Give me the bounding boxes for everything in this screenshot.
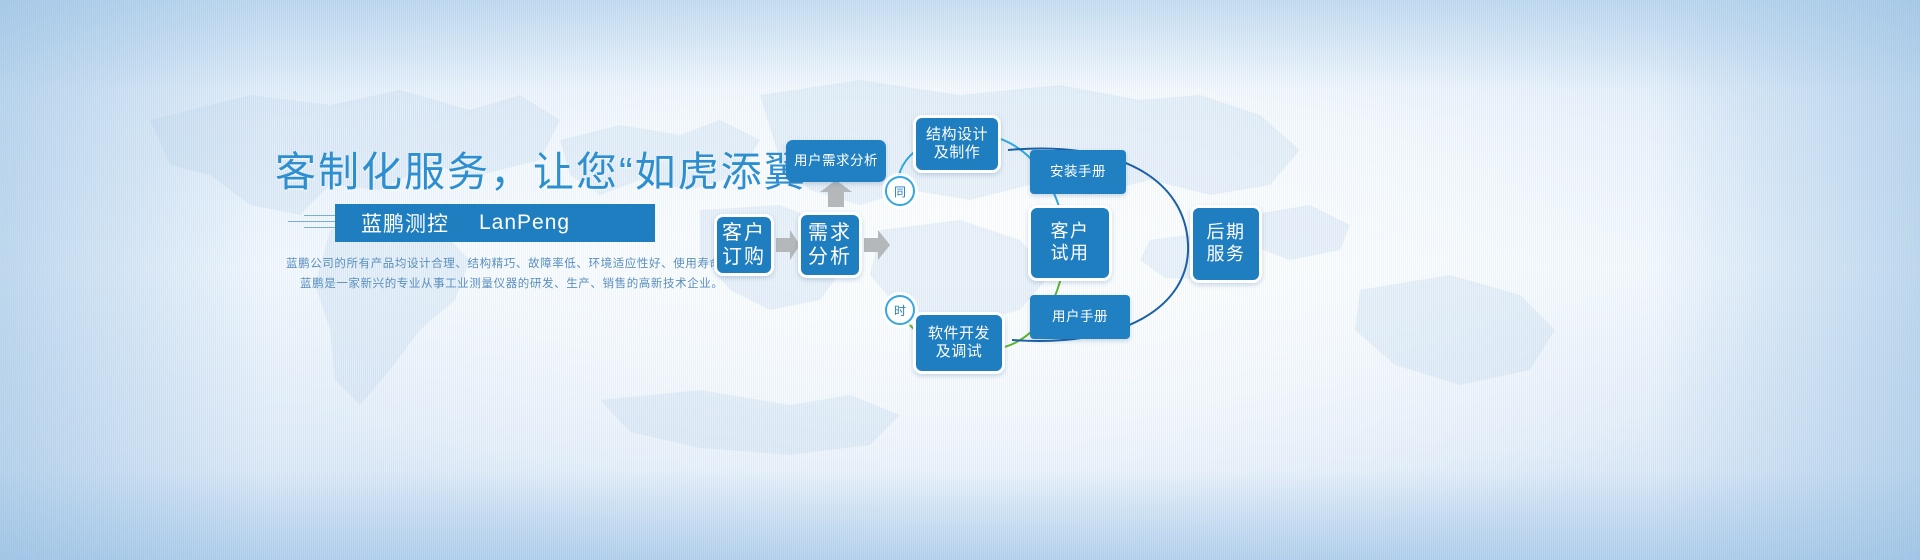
node-requirement-analysis[interactable]: 需求 分析	[798, 212, 862, 278]
node-after-sales-service-line2: 服务	[1207, 244, 1246, 264]
node-after-sales-service-line1: 后期	[1207, 222, 1246, 242]
node-customer-order-line1: 客户	[722, 222, 766, 244]
node-software-development[interactable]: 软件开发 及调试	[913, 312, 1005, 374]
flow-connectors	[0, 0, 1920, 560]
node-requirement-analysis-line1: 需求	[808, 222, 852, 244]
process-flow-diagram: 用户需求分析 客户 订购 需求 分析 结构设计 及制作 软件开发 及调试 安装手…	[0, 0, 1920, 560]
node-after-sales-service[interactable]: 后期 服务	[1190, 205, 1262, 283]
node-installation-manual[interactable]: 安装手册	[1030, 150, 1126, 194]
node-requirement-analysis-line2: 分析	[808, 246, 852, 268]
node-user-requirement-analysis[interactable]: 用户需求分析	[786, 140, 886, 182]
node-customer-order[interactable]: 客户 订购	[714, 214, 774, 276]
node-structure-design-line1: 结构设计	[926, 126, 988, 143]
node-software-development-line1: 软件开发	[928, 325, 990, 342]
badge-simultaneous-tong: 同	[885, 176, 915, 206]
node-user-manual[interactable]: 用户手册	[1030, 295, 1130, 339]
node-customer-order-line2: 订购	[722, 246, 766, 268]
node-customer-trial[interactable]: 客户 试用	[1028, 205, 1112, 281]
node-structure-design[interactable]: 结构设计 及制作	[913, 115, 1001, 173]
badge-simultaneous-shi: 时	[885, 295, 915, 325]
node-customer-trial-line2: 试用	[1051, 243, 1090, 263]
node-software-development-line2: 及调试	[936, 343, 983, 360]
node-customer-trial-line1: 客户	[1051, 221, 1090, 241]
node-structure-design-line2: 及制作	[934, 144, 981, 161]
customized-service-banner: 客制化服务，让您“如虎添翼” 蓝鹏测控 LanPeng 蓝鹏公司的所有产品均设计…	[0, 0, 1920, 560]
